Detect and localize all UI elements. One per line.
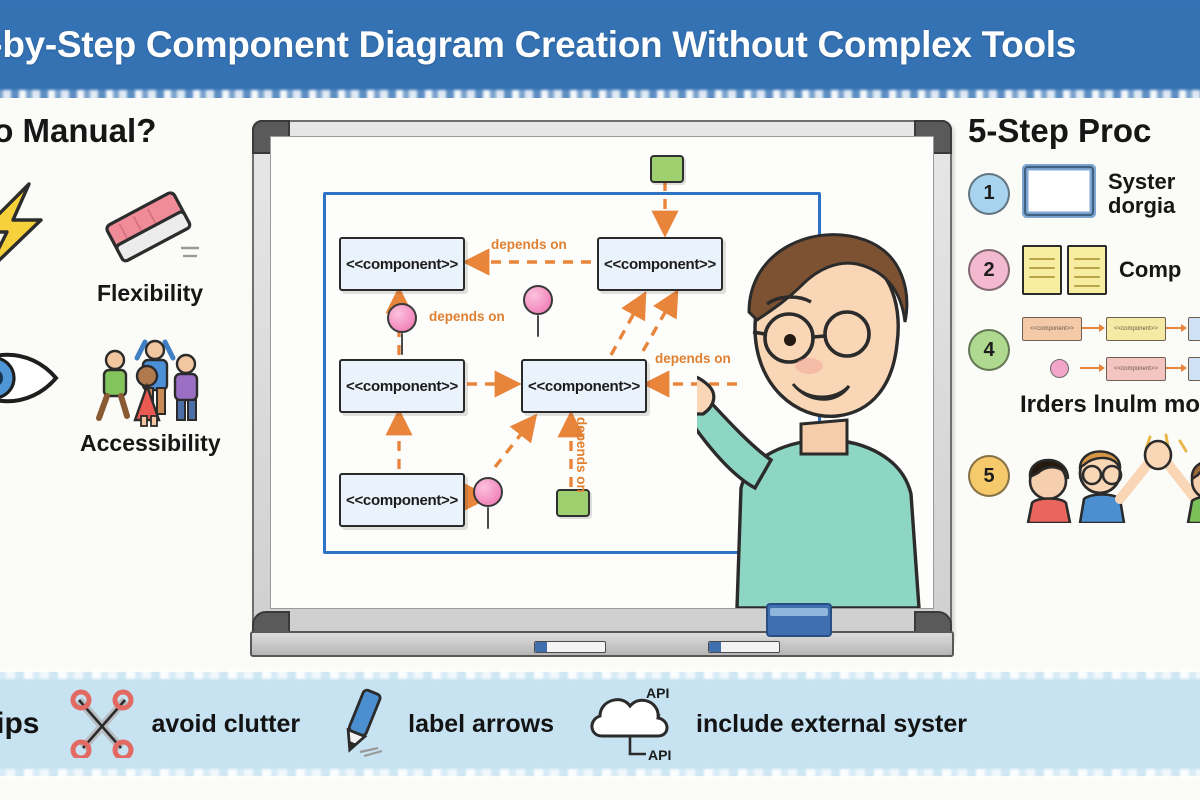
pro-tips-band: ro Tips avoid: [0, 672, 1200, 776]
interface-lollipop-icon: [523, 285, 553, 337]
benefit-speed: ed: [0, 178, 80, 328]
tip-label: include external syster: [696, 710, 967, 739]
pro-tips-title: ro Tips: [0, 707, 39, 741]
benefit-label: Flexibility: [80, 280, 220, 307]
step-number-badge: 5: [968, 455, 1010, 497]
component-box[interactable]: <<component>>: [339, 237, 465, 291]
cloud-api-icon: API API: [584, 682, 680, 767]
scissors-icon: [69, 686, 135, 763]
eye-icon: [0, 328, 80, 428]
tip-label: avoid clutter: [151, 710, 300, 739]
component-box[interactable]: <<component>>: [339, 473, 465, 527]
five-step-process-panel: 5-Step Proc 1 Syster dorgia 2: [968, 112, 1200, 519]
mini-component-box: [1188, 357, 1200, 381]
svg-text:API: API: [648, 747, 671, 762]
left-panel-heading: y Go Manual?: [0, 112, 230, 150]
right-panel-heading: 5-Step Proc: [968, 112, 1200, 150]
dependency-label: depends on: [429, 309, 505, 324]
tip-include-external-systems: API API include external syster: [584, 682, 967, 767]
dependency-label: depends on: [574, 417, 589, 493]
dependency-label: depends on: [491, 237, 567, 252]
why-go-manual-panel: y Go Manual? ed: [0, 112, 230, 478]
sticky-notes-icon: [1022, 245, 1107, 295]
whiteboard-tray: [250, 631, 954, 657]
benefit-focus: us: [0, 328, 80, 478]
tray-marker-icon: [534, 641, 606, 653]
process-step-1[interactable]: 1 Syster dorgia: [968, 164, 1200, 223]
tray-marker-icon: [708, 641, 780, 653]
step-text: Comp: [1119, 258, 1181, 282]
step-text-line2: dorgia: [1108, 194, 1175, 218]
frame-outline-icon: [1022, 164, 1096, 223]
tips-row: ro Tips avoid: [0, 672, 1200, 776]
benefit-label: ed: [0, 280, 80, 307]
step-text-line1: Comp: [1119, 258, 1181, 282]
green-node-icon: [650, 155, 684, 183]
header-rough-edge: [0, 90, 1200, 98]
benefit-label: Accessibility: [80, 430, 220, 457]
eraser-icon: [80, 178, 220, 278]
benefit-flexibility: Flexibility: [80, 178, 220, 328]
people-group-icon: [80, 328, 220, 428]
high-five-people-icon: [1022, 433, 1200, 519]
mini-component-box: [1188, 317, 1200, 341]
tray-eraser-icon: [766, 603, 832, 637]
step-number-badge: 4: [968, 329, 1010, 371]
step-number-badge: 1: [968, 173, 1010, 215]
whiteboard: <<component>> <<component>> <<component>…: [252, 120, 952, 645]
benefit-accessibility: Accessibility: [80, 328, 220, 478]
person-illustration: [697, 188, 947, 608]
mini-component-diagram-icon: <<component>> <<component>> <<component>…: [1022, 317, 1192, 383]
page-title: p-by-Step Component Diagram Creation Wit…: [0, 24, 1200, 66]
process-step-2[interactable]: 2 Comp: [968, 245, 1200, 295]
step-text: Syster dorgia: [1108, 170, 1175, 218]
process-step-5[interactable]: 5: [968, 433, 1200, 519]
tip-avoid-clutter: avoid clutter: [69, 686, 300, 763]
tip-label: label arrows: [408, 710, 554, 739]
interface-lollipop-icon: [473, 477, 503, 529]
benefit-label: us: [0, 430, 80, 457]
mini-component-box: <<component>>: [1022, 317, 1082, 341]
mini-component-box: <<component>>: [1106, 357, 1166, 381]
whiteboard-frame: <<component>> <<component>> <<component>…: [252, 120, 952, 645]
component-box[interactable]: <<component>>: [521, 359, 647, 413]
interface-lollipop-icon: [387, 303, 417, 355]
lightning-bolt-icon: [0, 178, 80, 278]
benefits-grid: ed Flexibi: [0, 178, 230, 478]
tip-label-arrows: label arrows: [330, 686, 554, 763]
header-band: p-by-Step Component Diagram Creation Wit…: [0, 0, 1200, 98]
svg-text:API: API: [646, 685, 669, 701]
step-number-badge: 2: [968, 249, 1010, 291]
process-step-4[interactable]: 4 <<component>> <<component>> <<componen…: [968, 317, 1200, 383]
infographic-canvas: p-by-Step Component Diagram Creation Wit…: [0, 0, 1200, 800]
mini-component-box: <<component>>: [1106, 317, 1166, 341]
green-node-icon: [556, 489, 590, 517]
whiteboard-surface[interactable]: <<component>> <<component>> <<component>…: [270, 136, 934, 609]
step-note-text: Irders lnulm moan: [1020, 391, 1200, 419]
pen-icon: [330, 686, 392, 763]
component-box[interactable]: <<component>>: [339, 359, 465, 413]
step-text-line1: Syster: [1108, 170, 1175, 194]
